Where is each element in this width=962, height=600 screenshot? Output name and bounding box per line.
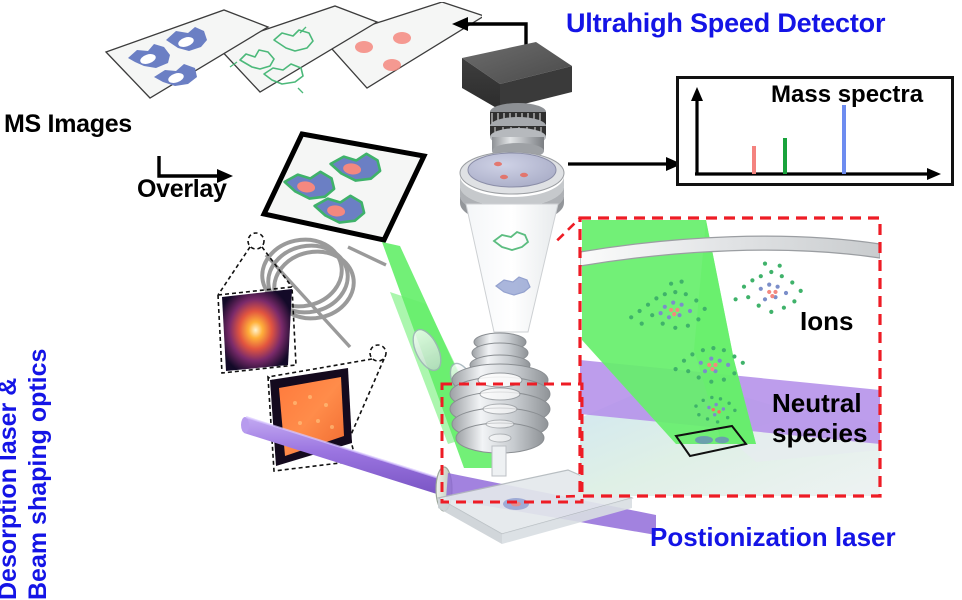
- inset-source-box: [436, 378, 606, 523]
- ions-label: Ions: [800, 308, 853, 334]
- microchannel-plate-lens-stack: [490, 103, 546, 159]
- overlay-label: Overlay: [137, 177, 227, 202]
- beam-shaping-optics-label-line2: Beam shaping optics: [26, 300, 51, 600]
- ms-images-label: MS Images: [4, 112, 132, 137]
- postionization-laser-label: Postionization laser: [650, 524, 896, 550]
- ultrahigh-speed-detector-title: Ultrahigh Speed Detector: [566, 10, 885, 37]
- desorption-laser-label-line1: Desorption laser &: [0, 300, 21, 600]
- ultrahigh-speed-detector-box: [462, 42, 572, 110]
- neutral-species-label-line1: Neutral: [772, 390, 862, 416]
- spectrum-peaks: [752, 105, 846, 174]
- desorption-postionization-inset: [556, 200, 960, 520]
- spectrum-peak-green: [783, 138, 787, 174]
- neutral-species-label-line2: species: [772, 420, 867, 446]
- mass-spectra-plot: [679, 79, 951, 183]
- figure-canvas: MS Images Overlay: [0, 0, 962, 558]
- postionization-laser-rod: [241, 417, 442, 495]
- spectrum-peak-blue: [842, 105, 846, 174]
- spectrum-peak-red: [752, 146, 756, 174]
- detector-to-spectra-arrow: [566, 152, 684, 176]
- mass-spectra-panel: Mass spectra: [676, 76, 954, 186]
